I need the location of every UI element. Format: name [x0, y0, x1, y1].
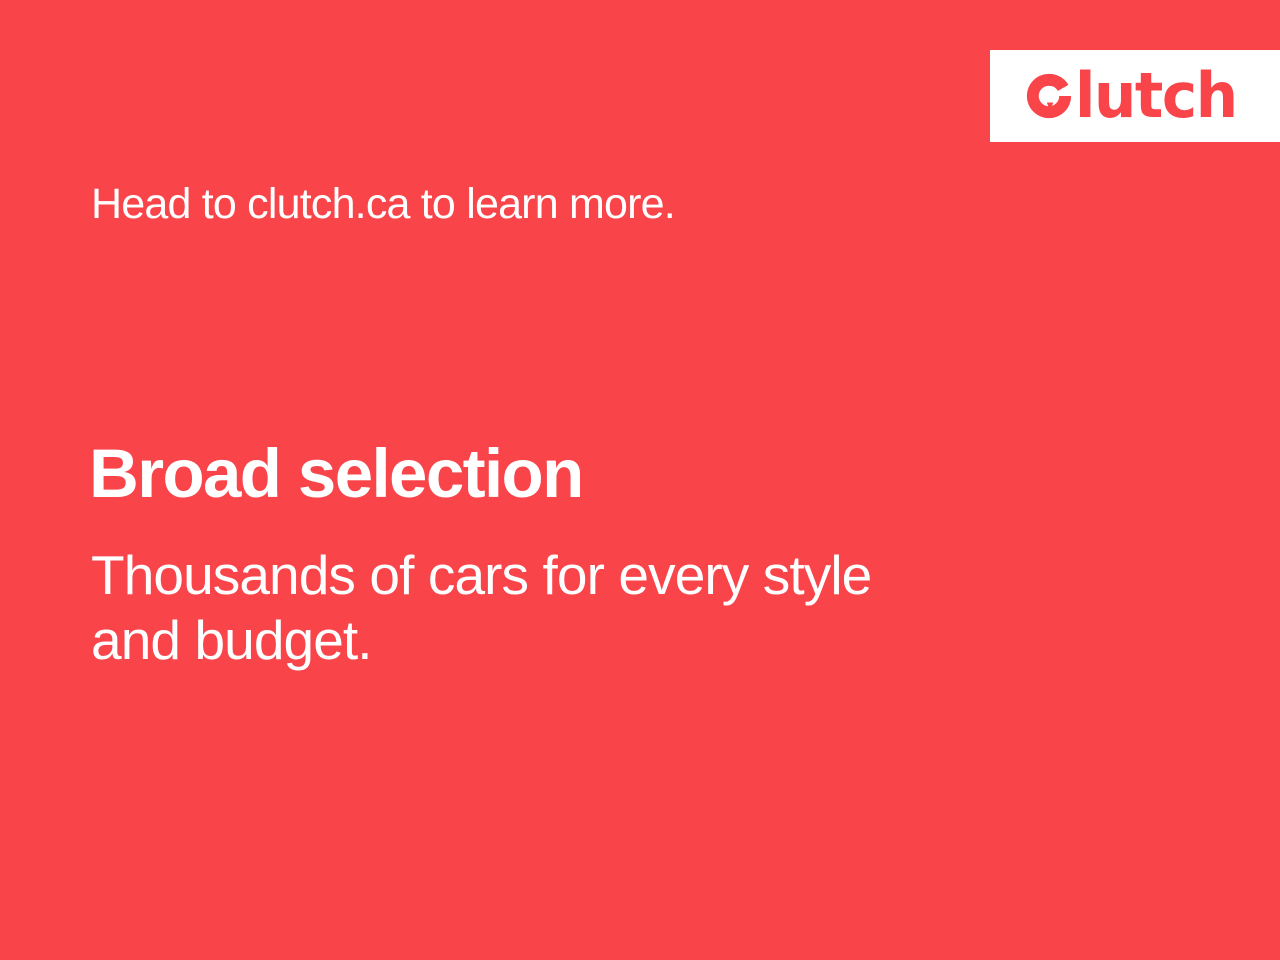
promo-slide: lutch Head to clutch.ca to learn more. B…	[0, 0, 1280, 960]
subhead-line-2: and budget.	[91, 608, 871, 673]
clutch-wordmark: lutch	[1075, 65, 1237, 127]
eyebrow-text: Head to clutch.ca to learn more.	[91, 180, 675, 229]
subhead-text: Thousands of cars for every style and bu…	[91, 543, 871, 673]
subhead-line-1: Thousands of cars for every style	[91, 543, 871, 608]
headline-text: Broad selection	[89, 437, 583, 512]
clutch-c-mark-icon	[1022, 69, 1076, 123]
brand-logo-plate: lutch	[990, 50, 1280, 142]
clutch-logo: lutch	[1022, 65, 1243, 127]
